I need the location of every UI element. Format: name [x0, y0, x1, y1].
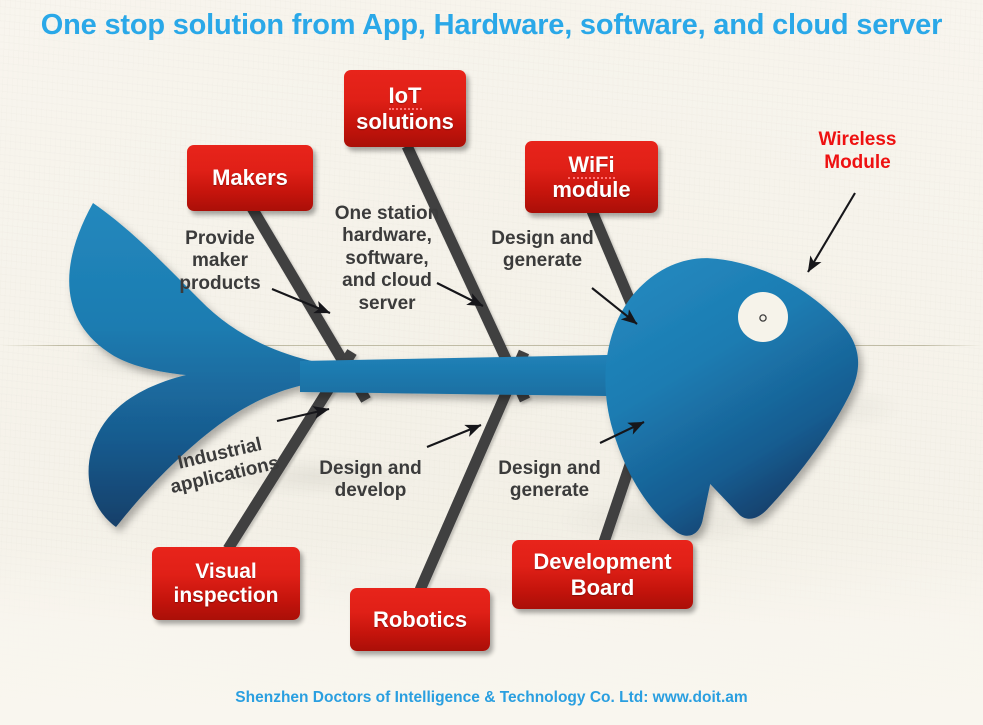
category-box-development-board[interactable]: Development Board — [512, 540, 693, 609]
effect-label-design-and-generate-top: Design and generate — [480, 228, 605, 273]
category-label-development-board-line2: Board — [571, 575, 635, 600]
category-label-wifi-module-line1: WiFi — [568, 152, 614, 179]
wireless-module-callout: Wireless Module — [795, 128, 920, 174]
category-label-visual-inspection-line1: Visual — [195, 560, 256, 583]
fish-eye — [738, 292, 788, 342]
fishbone-diagram-canvas: One stop solution from App, Hardware, so… — [0, 0, 983, 725]
footer-company-line: Shenzhen Doctors of Intelligence & Techn… — [0, 689, 983, 707]
category-label-iot-solutions-line2: solutions — [356, 109, 454, 134]
fish-head — [589, 238, 879, 544]
fishbone-artwork — [0, 0, 983, 725]
category-label-wifi-module-line2: module — [552, 177, 630, 202]
category-label-robotics: Robotics — [373, 607, 467, 632]
effect-label-provide-maker-products: Provide maker products — [168, 228, 272, 295]
category-box-iot-solutions[interactable]: IoT solutions — [344, 70, 466, 147]
category-label-development-board-line1: Development — [533, 549, 671, 574]
arrow-wireless-module — [808, 193, 855, 272]
category-box-makers[interactable]: Makers — [187, 145, 313, 211]
effect-label-one-station-hardware: One station hardware, software, and clou… — [322, 203, 452, 315]
category-label-visual-inspection-line2: inspection — [173, 584, 278, 607]
category-box-wifi-module[interactable]: WiFi module — [525, 141, 658, 213]
arrow-industrial-applications — [277, 409, 329, 421]
category-box-visual-inspection[interactable]: Visual inspection — [152, 547, 300, 620]
category-box-robotics[interactable]: Robotics — [350, 588, 490, 651]
effect-label-design-and-develop: Design and develop — [308, 458, 433, 503]
category-label-iot-solutions-line1: IoT — [389, 83, 422, 110]
category-label-makers: Makers — [212, 165, 288, 190]
arrow-design-and-develop — [427, 425, 481, 447]
effect-label-design-and-generate-bottom: Design and generate — [487, 458, 612, 503]
